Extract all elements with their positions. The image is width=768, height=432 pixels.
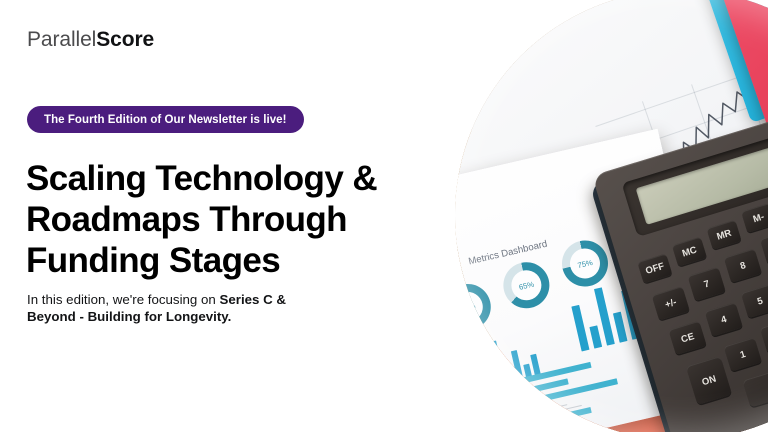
calc-key-0[interactable]: 0 — [742, 365, 768, 408]
calc-key-2[interactable]: 2 — [760, 319, 768, 353]
calc-key-on[interactable]: ON — [686, 356, 732, 405]
hero-photo: Mar 9 Mar 8 Mar 7 Mar 6 Mar 5 Stock-mark… — [455, 0, 768, 432]
calc-key-8[interactable]: 8 — [724, 248, 762, 282]
page-title: Scaling Technology & Roadmaps Through Fu… — [26, 158, 396, 281]
calc-key-m-minus[interactable]: M- — [741, 203, 768, 233]
badge-label: The Fourth Edition of Our Newsletter is … — [44, 114, 287, 126]
newsletter-status-badge[interactable]: The Fourth Edition of Our Newsletter is … — [27, 106, 304, 133]
newsletter-hero-banner: ParallelScore The Fourth Edition of Our … — [0, 0, 768, 432]
subtitle-lead: In this edition, we're focusing on — [27, 292, 220, 307]
headline-line-1: Scaling Technology & — [26, 158, 396, 199]
logo-text-light: Parallel — [27, 28, 96, 51]
calc-key-9[interactable]: 9 — [760, 230, 768, 264]
brand-logo[interactable]: ParallelScore — [27, 28, 154, 52]
subtitle: In this edition, we're focusing on Serie… — [27, 291, 337, 325]
logo-text-bold: Score — [96, 28, 154, 51]
calc-key-5[interactable]: 5 — [741, 284, 768, 318]
calc-key-7[interactable]: 7 — [688, 267, 726, 301]
calc-key-mc[interactable]: MC — [672, 237, 707, 267]
calc-key-1[interactable]: 1 — [724, 337, 762, 371]
calc-key-mr[interactable]: MR — [706, 220, 741, 250]
calc-key-ce[interactable]: CE — [668, 321, 706, 355]
donut-gauge-1: 65% — [499, 258, 554, 313]
photo-scene: Mar 9 Mar 8 Mar 7 Mar 6 Mar 5 Stock-mark… — [455, 0, 768, 432]
donut-label-1: 65% — [499, 258, 554, 313]
calc-key-4[interactable]: 4 — [705, 302, 743, 336]
headline-line-2: Roadmaps Through — [26, 199, 396, 240]
calc-key-sign[interactable]: +/- — [652, 286, 690, 320]
calc-key-off[interactable]: OFF — [637, 254, 672, 284]
headline-line-3: Funding Stages — [26, 240, 396, 281]
